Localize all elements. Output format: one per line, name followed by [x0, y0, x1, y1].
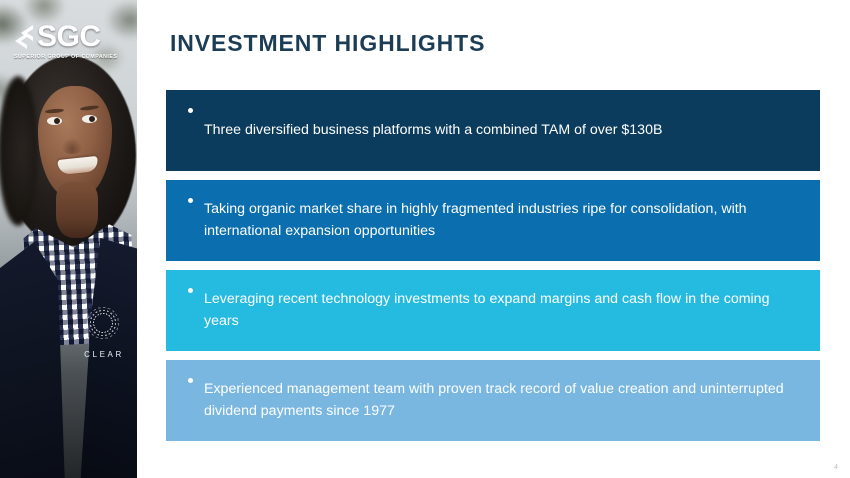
clear-ring-icon: [86, 306, 120, 340]
highlight-text-3: Leveraging recent technology investments…: [204, 289, 794, 332]
sgc-logo-row: SGC: [14, 22, 130, 52]
clear-brand-word: CLEAR: [76, 350, 132, 359]
page-number: 4: [834, 464, 838, 471]
highlight-item-1: Three diversified business platforms wit…: [166, 90, 820, 171]
bullet-dot-icon: [188, 108, 193, 113]
hero-photo: CLEAR: [0, 0, 137, 478]
bullet-dot-icon: [188, 288, 193, 293]
photo-eye-right: [82, 115, 97, 123]
bullet-dot-icon: [188, 378, 193, 383]
sgc-tagline: SUPERIOR GROUP OF COMPANIES: [14, 54, 130, 60]
highlight-text-2: Taking organic market share in highly fr…: [204, 199, 794, 242]
slide-investment-highlights: CLEAR SGC SUPERIOR GROUP OF COMPANIES IN…: [0, 0, 850, 478]
photo-eye-left: [47, 117, 62, 125]
photo-nose: [62, 138, 82, 154]
highlight-text-4: Experienced management team with proven …: [204, 379, 794, 422]
sgc-logo: SGC SUPERIOR GROUP OF COMPANIES: [14, 22, 130, 60]
page-title: INVESTMENT HIGHLIGHTS: [170, 30, 485, 57]
highlight-item-3: Leveraging recent technology investments…: [166, 270, 820, 351]
sgc-chevron-icon: [14, 24, 34, 50]
highlights-list: Three diversified business platforms wit…: [166, 90, 820, 450]
slide-content: INVESTMENT HIGHLIGHTS Three diversified …: [137, 0, 850, 478]
highlight-item-2: Taking organic market share in highly fr…: [166, 180, 820, 261]
highlight-text-1: Three diversified business platforms wit…: [204, 120, 794, 142]
highlight-item-4: Experienced management team with proven …: [166, 360, 820, 441]
photo-neck: [56, 182, 98, 238]
bullet-dot-icon: [188, 198, 193, 203]
sgc-wordmark: SGC: [37, 22, 101, 52]
